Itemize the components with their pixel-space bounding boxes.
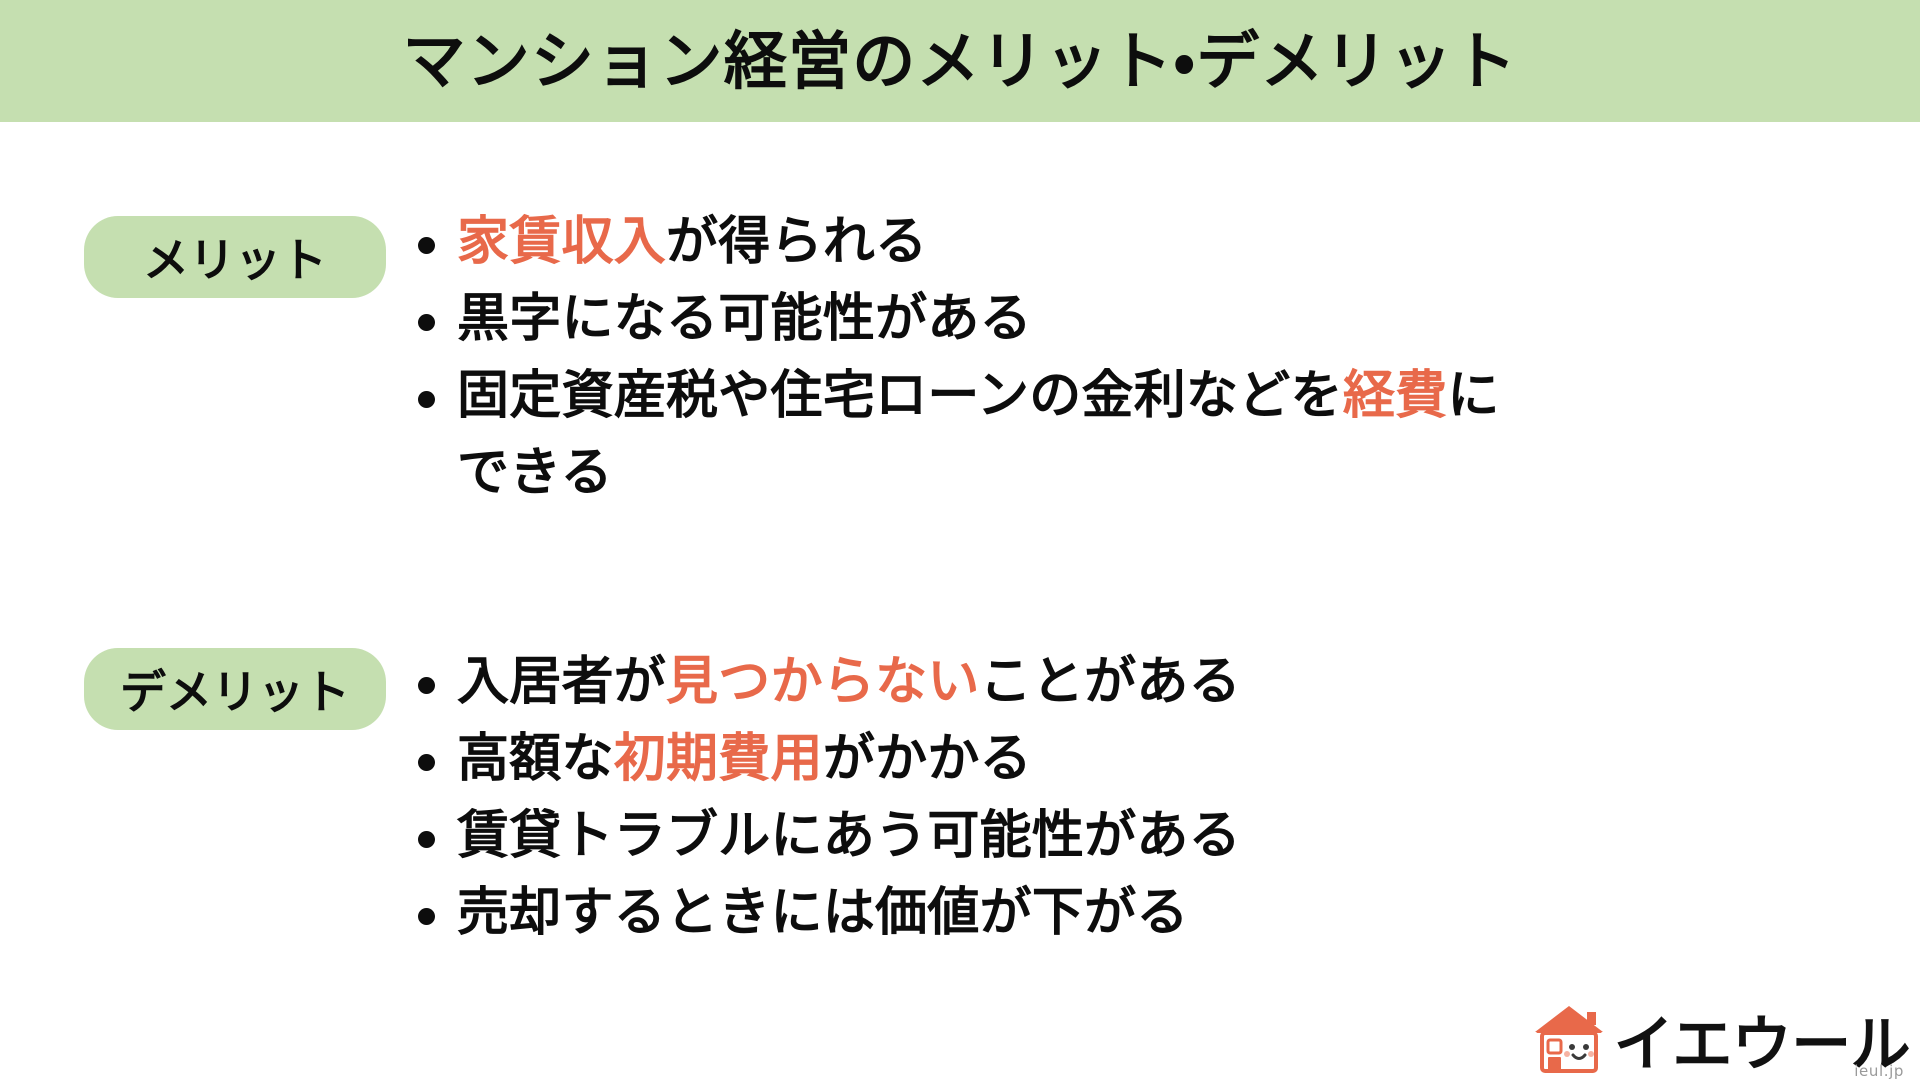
header-band: マンション経営のメリット・デメリット <box>0 0 1920 122</box>
plain-text: 賃貸トラブルにあう可能性がある <box>457 806 1241 866</box>
bullet-dot-icon <box>418 831 435 848</box>
highlighted-term: 家賃収入 <box>457 212 666 272</box>
list-item-label: 高額な初期費用がかかる <box>457 721 1032 798</box>
content-area: メリット 家賃収入が得られる黒字になる可能性がある固定資産税や住宅ローンの金利な… <box>0 122 1920 1080</box>
plain-text: が得られる <box>666 212 927 272</box>
bullet-dot-icon <box>418 391 435 408</box>
highlighted-term: 初期費用 <box>614 729 823 789</box>
list-item: 高額な初期費用がかかる <box>418 721 1241 798</box>
highlighted-term: 経費 <box>1343 366 1448 426</box>
demerit-section: デメリット 入居者が見つからないことがある高額な初期費用がかかる賃貸トラブルにあ… <box>84 644 1241 952</box>
plain-text: 固定資産税や住宅ローンの金利などを <box>457 366 1343 426</box>
list-item-label: 売却するときには価値が下がる <box>457 875 1189 952</box>
highlighted-term: 見つからない <box>666 652 980 712</box>
bullet-dot-icon <box>418 908 435 925</box>
list-item: 売却するときには価値が下がる <box>418 875 1241 952</box>
bullet-dot-icon <box>418 754 435 771</box>
plain-text: 入居者が <box>457 652 666 712</box>
list-item: 賃貸トラブルにあう可能性がある <box>418 798 1241 875</box>
page-title: マンション経営のメリット・デメリット <box>402 30 1517 93</box>
logo-wordmark: イエウール ieul.jp <box>1614 1017 1910 1074</box>
badge-demerit: デメリット <box>84 648 386 730</box>
plain-text: 高額な <box>457 729 614 789</box>
list-item-label: 賃貸トラブルにあう可能性がある <box>457 798 1241 875</box>
list-item: 固定資産税や住宅ローンの金利などを経費にできる <box>418 358 1537 512</box>
list-item: 黒字になる可能性がある <box>418 281 1537 358</box>
plain-text: 黒字になる可能性がある <box>457 289 1032 349</box>
list-item-label: 入居者が見つからないことがある <box>457 644 1241 721</box>
badge-merit: メリット <box>84 216 386 298</box>
plain-text: 売却するときには価値が下がる <box>457 883 1189 943</box>
plain-text: ことがある <box>980 652 1241 712</box>
bullet-dot-icon <box>418 314 435 331</box>
list-item: 家賃収入が得られる <box>418 204 1537 281</box>
house-with-face-icon <box>1530 1002 1608 1074</box>
list-item: 入居者が見つからないことがある <box>418 644 1241 721</box>
merit-bullet-list: 家賃収入が得られる黒字になる可能性がある固定資産税や住宅ローンの金利などを経費に… <box>418 204 1537 512</box>
list-item-label: 家賃収入が得られる <box>457 204 927 281</box>
list-item-label: 黒字になる可能性がある <box>457 281 1032 358</box>
demerit-bullet-list: 入居者が見つからないことがある高額な初期費用がかかる賃貸トラブルにあう可能性があ… <box>418 644 1241 952</box>
plain-text: がかかる <box>823 729 1032 789</box>
bullet-dot-icon <box>418 237 435 254</box>
logo-domain-text: ieul.jp <box>1854 1064 1904 1078</box>
brand-logo: イエウール ieul.jp <box>1530 1002 1910 1074</box>
merit-section: メリット 家賃収入が得られる黒字になる可能性がある固定資産税や住宅ローンの金利な… <box>84 204 1537 512</box>
bullet-dot-icon <box>418 677 435 694</box>
list-item-label: 固定資産税や住宅ローンの金利などを経費にできる <box>457 358 1537 512</box>
